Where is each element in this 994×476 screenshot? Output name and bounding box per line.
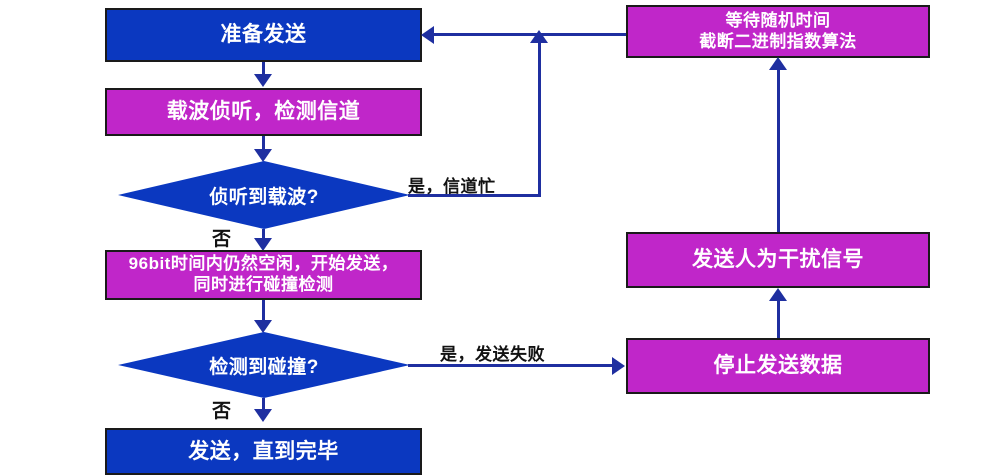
node-sense-carrier-decision-label-wrap: 侦听到载波?: [118, 161, 410, 229]
arrowhead-up-to-wait-random: [769, 57, 787, 70]
connector-idle96bit-to-collision: [262, 300, 265, 322]
connector-jam-to-wait-random: [777, 70, 780, 232]
node-collision-decision-label-wrap: 检测到碰撞?: [118, 332, 410, 398]
arrowhead-right-to-stop-sending: [612, 357, 625, 375]
arrowhead-up-to-send-jam-signal: [769, 288, 787, 301]
node-carrier-sense-label: 载波侦听，检测信道: [167, 99, 361, 125]
arrowhead-down-to-carrier-sense: [254, 74, 272, 87]
arrowhead-down-to-send-until-done: [254, 409, 272, 422]
arrowhead-up-channel-busy: [530, 30, 548, 43]
node-prepare-send[interactable]: 准备发送: [105, 8, 422, 62]
edge-label-sense-no: 否: [212, 224, 232, 251]
node-send-until-done-label: 发送，直到完毕: [188, 439, 339, 465]
node-idle-96bit-line2: 同时进行碰撞检测: [194, 275, 334, 296]
node-sense-carrier-decision[interactable]: 侦听到载波?: [118, 161, 410, 229]
node-idle-96bit[interactable]: 96bit时间内仍然空闲，开始发送， 同时进行碰撞检测: [105, 250, 422, 300]
edge-label-collision-no: 否: [212, 396, 232, 423]
node-send-jam-signal[interactable]: 发送人为干扰信号: [626, 232, 930, 288]
connector-stop-to-jam: [777, 300, 780, 338]
node-wait-random[interactable]: 等待随机时间 截断二进制指数算法: [626, 5, 930, 58]
node-stop-sending[interactable]: 停止发送数据: [626, 338, 930, 394]
edge-label-channel-busy: 是，信道忙: [408, 172, 496, 197]
node-send-until-done[interactable]: 发送，直到完毕: [105, 428, 422, 475]
arrowhead-left-to-prepare-send: [421, 26, 434, 44]
node-wait-random-line1: 等待随机时间: [726, 11, 831, 32]
connector-wait-random-to-prepare: [433, 33, 626, 36]
node-collision-decision-label: 检测到碰撞?: [209, 352, 319, 379]
flowchart-canvas: 准备发送 载波侦听，检测信道 侦听到载波? 否 是，信道忙 96bit时间内仍然…: [0, 0, 994, 476]
node-stop-sending-label: 停止发送数据: [714, 353, 843, 379]
edge-label-send-failed: 是，发送失败: [440, 340, 545, 365]
node-prepare-send-label: 准备发送: [221, 22, 307, 48]
node-collision-decision[interactable]: 检测到碰撞?: [118, 332, 410, 398]
node-idle-96bit-line1: 96bit时间内仍然空闲，开始发送，: [129, 254, 399, 275]
node-carrier-sense[interactable]: 载波侦听，检测信道: [105, 88, 422, 136]
node-wait-random-line2: 截断二进制指数算法: [699, 32, 857, 53]
node-sense-carrier-decision-label: 侦听到载波?: [209, 182, 319, 209]
node-send-jam-signal-label: 发送人为干扰信号: [692, 247, 864, 273]
connector-channel-busy-vertical: [538, 42, 541, 197]
